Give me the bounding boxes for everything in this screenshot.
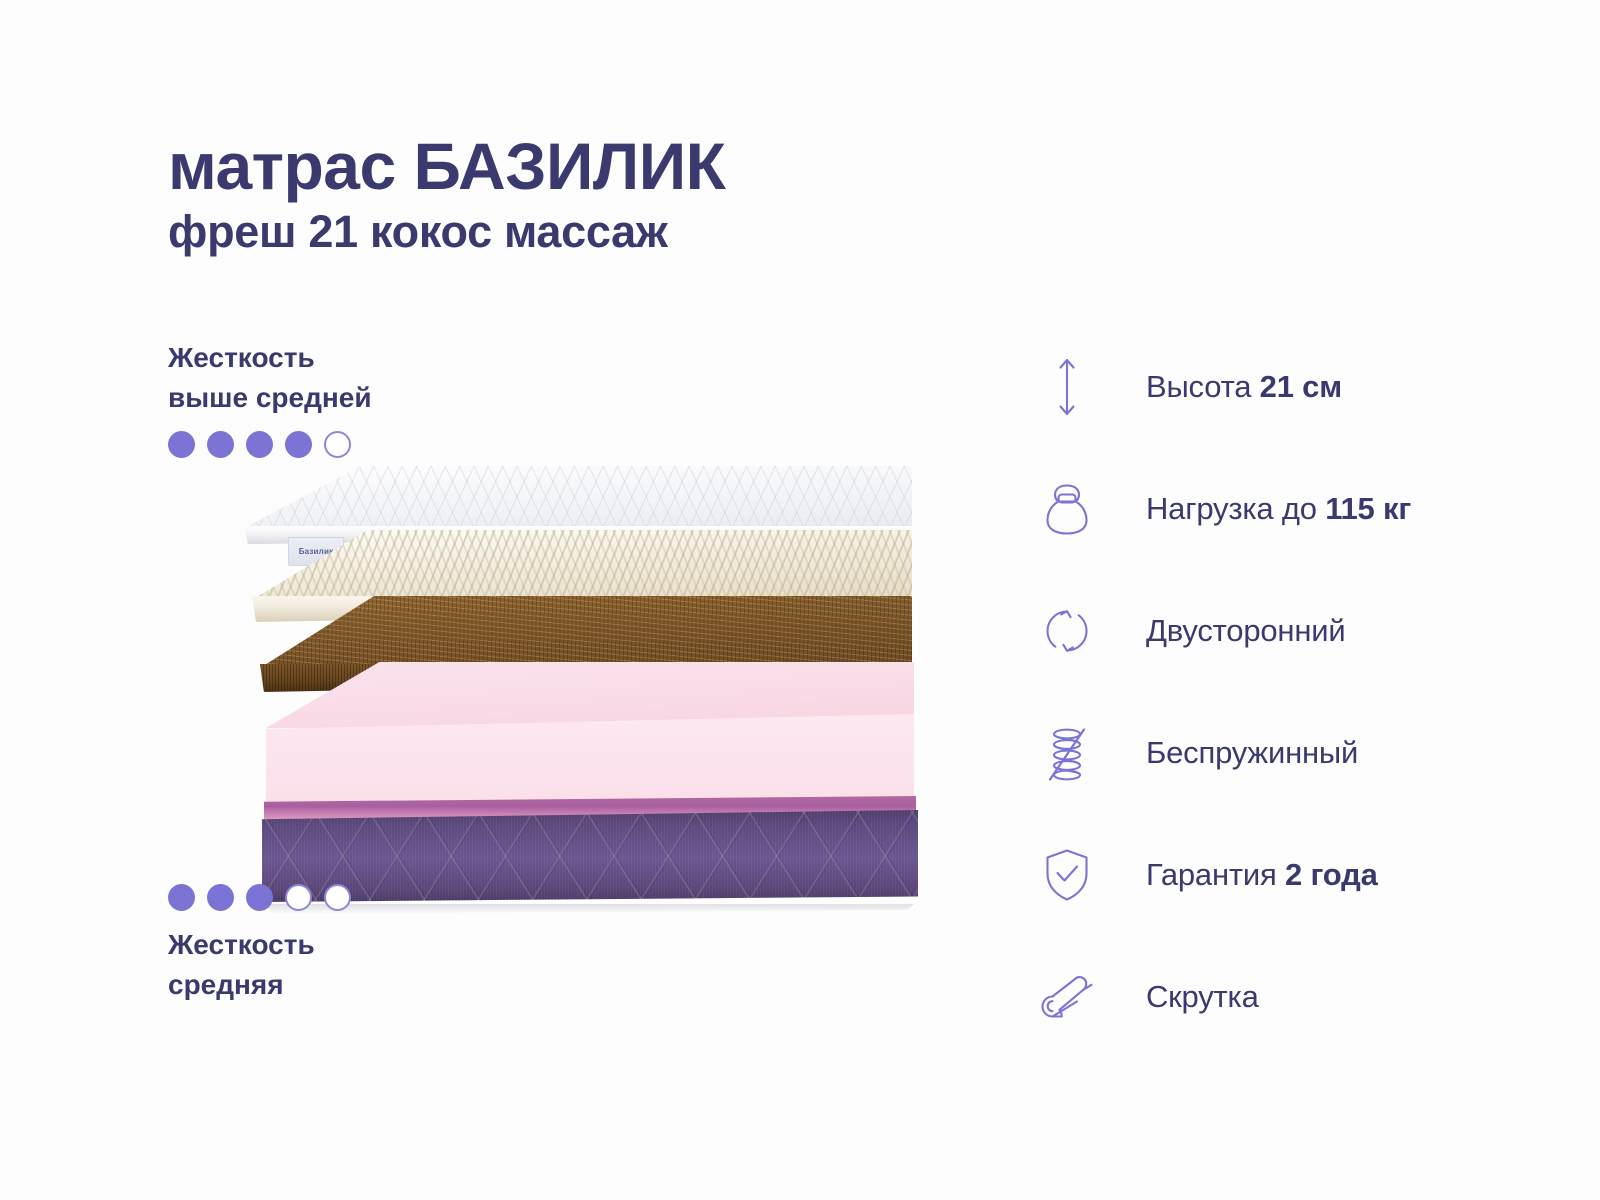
layer-top-face bbox=[260, 596, 912, 668]
firmness-dot-filled bbox=[207, 431, 234, 458]
firmness-bottom-side: Жесткость средняя bbox=[168, 884, 498, 1005]
kettlebell-icon bbox=[1036, 474, 1098, 544]
layer-top-face bbox=[244, 466, 912, 528]
height-arrow-icon bbox=[1036, 352, 1098, 422]
feature-row-warranty: Гарантия 2 года bbox=[1036, 814, 1506, 936]
feature-row-max-load: Нагрузка до 115 кг bbox=[1036, 448, 1506, 570]
two-sided-icon bbox=[1036, 596, 1098, 666]
firmness-bottom-label-line2: средняя bbox=[168, 965, 498, 1005]
layer-top-face bbox=[252, 530, 912, 600]
firmness-top-label-line2: выше средней bbox=[168, 378, 498, 418]
feature-list: Высота 21 см Нагрузка до 115 кг bbox=[1036, 326, 1506, 1058]
feature-label-max-load: Нагрузка до 115 кг bbox=[1146, 491, 1411, 527]
no-spring-icon bbox=[1036, 718, 1098, 788]
feature-row-roll-packed: Скрутка bbox=[1036, 936, 1506, 1058]
firmness-dot-filled bbox=[168, 431, 195, 458]
firmness-bottom-label-line1: Жесткость bbox=[168, 925, 498, 965]
firmness-dot-filled bbox=[285, 431, 312, 458]
roll-up-icon bbox=[1036, 962, 1098, 1032]
feature-label-two-sided: Двусторонний bbox=[1146, 613, 1345, 649]
firmness-bottom-rating bbox=[168, 884, 498, 911]
firmness-dot-empty bbox=[285, 884, 312, 911]
product-title-sub: фреш 21 кокос массаж bbox=[168, 207, 1068, 257]
firmness-dot-empty bbox=[324, 431, 351, 458]
shield-check-icon bbox=[1036, 840, 1098, 910]
product-infographic: матрас БАЗИЛИК фреш 21 кокос массаж Жест… bbox=[0, 0, 1600, 1200]
mattress-layer-stack: Базилик bbox=[236, 466, 926, 876]
firmness-dot-filled bbox=[246, 431, 273, 458]
firmness-top-side: Жесткость выше средней bbox=[168, 338, 498, 458]
firmness-dot-empty bbox=[324, 884, 351, 911]
feature-label-warranty: Гарантия 2 года bbox=[1146, 857, 1378, 893]
feature-row-height: Высота 21 см bbox=[1036, 326, 1506, 448]
feature-label-roll-packed: Скрутка bbox=[1146, 979, 1259, 1015]
page-title: матрас БАЗИЛИК фреш 21 кокос массаж bbox=[168, 132, 1068, 257]
firmness-top-label-line1: Жесткость bbox=[168, 338, 498, 378]
feature-label-springless: Беспружинный bbox=[1146, 735, 1358, 771]
firmness-dot-filled bbox=[207, 884, 234, 911]
firmness-dot-filled bbox=[168, 884, 195, 911]
firmness-top-rating bbox=[168, 431, 498, 458]
feature-label-height: Высота 21 см bbox=[1146, 369, 1342, 405]
feature-row-two-sided: Двусторонний bbox=[1036, 570, 1506, 692]
firmness-dot-filled bbox=[246, 884, 273, 911]
feature-row-springless: Беспружинный bbox=[1036, 692, 1506, 814]
product-title-main: матрас БАЗИЛИК bbox=[168, 132, 1068, 201]
